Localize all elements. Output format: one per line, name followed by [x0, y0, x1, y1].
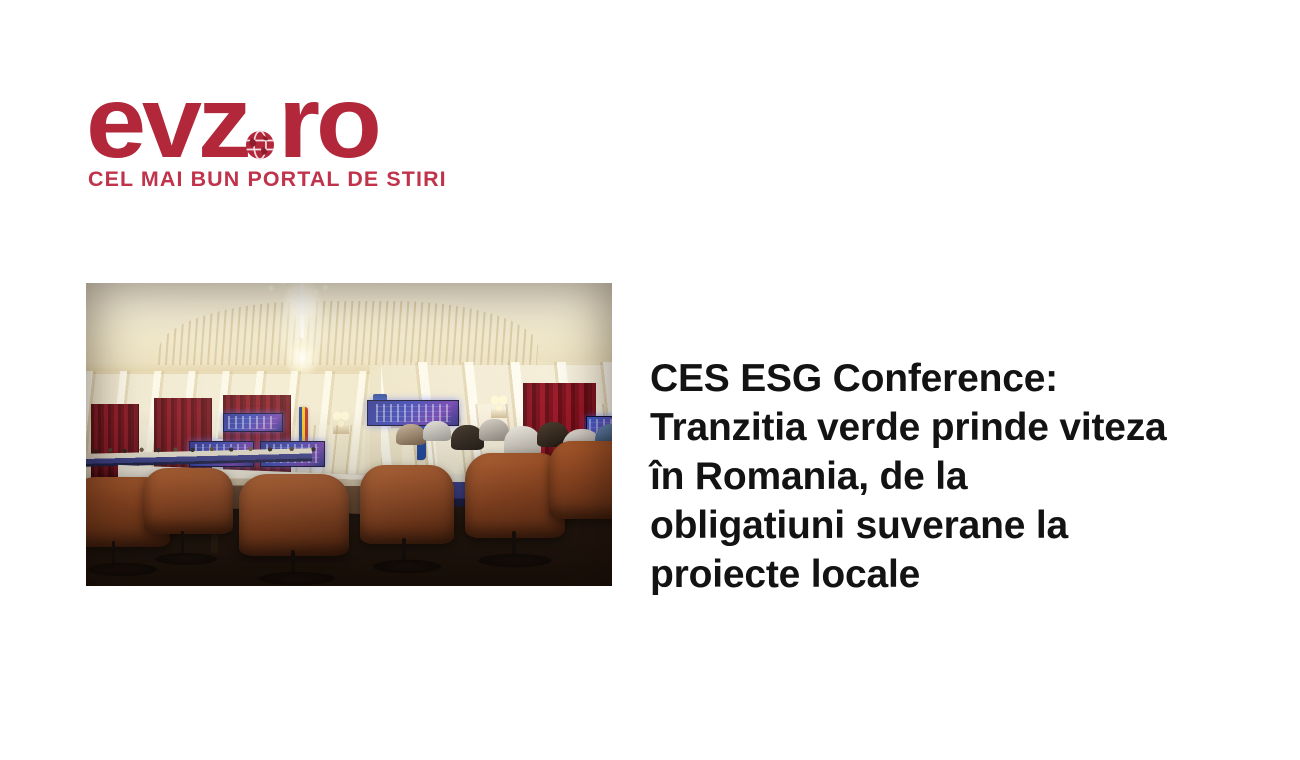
office-chair	[144, 468, 233, 535]
chair-base	[244, 565, 349, 586]
article-headline[interactable]: CES ESG Conference: Tranzitia verde prin…	[650, 354, 1250, 599]
office-chair	[549, 441, 612, 520]
attendees-far-side	[86, 439, 328, 457]
attendee	[396, 424, 426, 446]
headline-line: proiecte locale	[650, 550, 1250, 599]
ceiling-coffer	[157, 301, 541, 370]
article-thumbnail[interactable]	[86, 283, 612, 586]
headline-line: CES ESG Conference:	[650, 354, 1250, 403]
wall-sconce	[333, 410, 349, 434]
conference-hall-illustration	[86, 283, 612, 586]
chair-base	[360, 553, 455, 580]
office-chair	[239, 474, 349, 556]
office-chair	[360, 465, 455, 544]
headline-line: Tranzitia verde prinde viteza	[650, 403, 1250, 452]
chair-base	[465, 547, 565, 574]
headline-line: în Romania, de la	[650, 452, 1250, 501]
logo-wordmark-ro: ro	[278, 78, 378, 166]
presentation-screen	[223, 413, 283, 432]
logo-wordmark: evz ro	[86, 78, 406, 166]
chair-base	[144, 547, 228, 571]
logo-tagline: CEL MAI BUN PORTAL DE STIRI	[88, 168, 447, 192]
site-logo[interactable]: evz ro CEL MAI BUN PORTAL DE STIRI	[86, 78, 406, 203]
article-card-page: { "brand": { "wordmark_first": "evz", "w…	[0, 0, 1300, 760]
wall-sconce	[491, 394, 507, 418]
logo-wordmark-evz: evz	[86, 78, 248, 166]
headline-line: obligatiuni suverane la	[650, 501, 1250, 550]
attendee	[423, 421, 451, 441]
chandelier-arms	[263, 283, 341, 306]
attendee	[504, 426, 541, 455]
globe-icon	[245, 130, 275, 160]
